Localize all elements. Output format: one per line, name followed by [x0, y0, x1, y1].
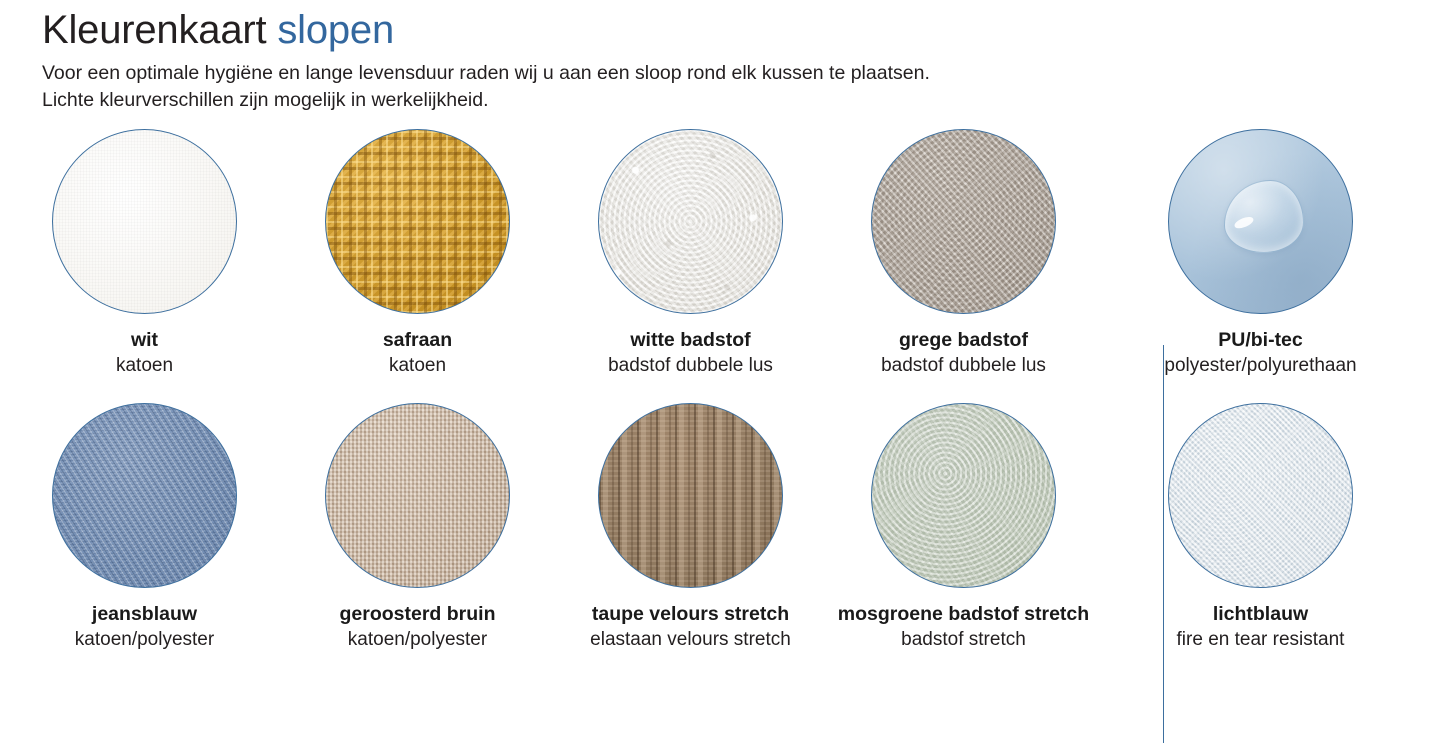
- swatch-labels: PU/bi-tec polyester/polyurethaan: [1164, 328, 1356, 378]
- swatch-name: wit: [116, 328, 173, 352]
- subtitle-line-1: Voor een optimale hygiëne en lange leven…: [42, 60, 1445, 88]
- swatch-item-wit[interactable]: wit katoen: [8, 129, 281, 378]
- swatch-item-mosgroene-badstof-stretch[interactable]: mosgroene badstof stretch badstof stretc…: [827, 403, 1100, 652]
- swatch-labels: wit katoen: [116, 328, 173, 378]
- swatch-circle-pu-bi-tec: [1168, 129, 1353, 314]
- water-droplet-icon: [1224, 180, 1305, 253]
- swatch-item-taupe-velours-stretch[interactable]: taupe velours stretch elastaan velours s…: [554, 403, 827, 652]
- page-title-main: Kleurenkaart: [42, 8, 266, 52]
- swatch-circle-taupe-velours-stretch: [598, 403, 783, 588]
- swatch-circle-mosgroene-badstof-stretch: [871, 403, 1056, 588]
- swatch-material: polyester/polyurethaan: [1164, 354, 1356, 379]
- swatch-row-2: jeansblauw katoen/polyester geroosterd b…: [8, 403, 1437, 652]
- swatch-labels: witte badstof badstof dubbele lus: [608, 328, 773, 378]
- swatch-labels: grege badstof badstof dubbele lus: [881, 328, 1046, 378]
- swatch-labels: jeansblauw katoen/polyester: [75, 602, 214, 652]
- swatch-item-witte-badstof[interactable]: witte badstof badstof dubbele lus: [554, 129, 827, 378]
- swatch-name: jeansblauw: [75, 602, 214, 626]
- page-title: Kleurenkaart slopen: [42, 8, 1445, 53]
- swatch-name: taupe velours stretch: [590, 602, 791, 626]
- swatch-labels: lichtblauw fire en tear resistant: [1177, 602, 1345, 652]
- swatch-circle-jeansblauw: [52, 403, 237, 588]
- swatch-name: lichtblauw: [1177, 602, 1345, 626]
- swatch-name: witte badstof: [608, 328, 773, 352]
- swatch-board: wit katoen safraan katoen witte badstof …: [0, 129, 1445, 652]
- swatch-material: elastaan velours stretch: [590, 628, 791, 653]
- swatch-name: geroosterd bruin: [339, 602, 495, 626]
- swatch-name: mosgroene badstof stretch: [838, 602, 1089, 626]
- swatch-circle-wit: [52, 129, 237, 314]
- swatch-circle-grege-badstof: [871, 129, 1056, 314]
- swatch-labels: geroosterd bruin katoen/polyester: [339, 602, 495, 652]
- page-subtitle: Voor een optimale hygiëne en lange leven…: [42, 60, 1445, 115]
- page-title-accent: slopen: [277, 8, 394, 52]
- swatch-name: PU/bi-tec: [1164, 328, 1356, 352]
- swatch-circle-witte-badstof: [598, 129, 783, 314]
- swatch-material: badstof dubbele lus: [881, 354, 1046, 379]
- swatch-item-safraan[interactable]: safraan katoen: [281, 129, 554, 378]
- swatch-circle-safraan: [325, 129, 510, 314]
- swatch-item-jeansblauw[interactable]: jeansblauw katoen/polyester: [8, 403, 281, 652]
- swatch-material: katoen/polyester: [75, 628, 214, 653]
- swatch-circle-lichtblauw: [1168, 403, 1353, 588]
- page-header: Kleurenkaart slopen Voor een optimale hy…: [0, 0, 1445, 115]
- swatch-labels: mosgroene badstof stretch badstof stretc…: [838, 602, 1089, 652]
- swatch-material: katoen/polyester: [339, 628, 495, 653]
- section-divider: [1163, 345, 1164, 743]
- swatch-material: badstof dubbele lus: [608, 354, 773, 379]
- swatch-material: badstof stretch: [838, 628, 1089, 653]
- swatch-item-grege-badstof[interactable]: grege badstof badstof dubbele lus: [827, 129, 1100, 378]
- swatch-item-geroosterd-bruin[interactable]: geroosterd bruin katoen/polyester: [281, 403, 554, 652]
- swatch-labels: taupe velours stretch elastaan velours s…: [590, 602, 791, 652]
- swatch-row-1: wit katoen safraan katoen witte badstof …: [8, 129, 1437, 378]
- swatch-material: katoen: [383, 354, 452, 379]
- subtitle-line-2: Lichte kleurverschillen zijn mogelijk in…: [42, 87, 1445, 115]
- swatch-name: grege badstof: [881, 328, 1046, 352]
- swatch-circle-geroosterd-bruin: [325, 403, 510, 588]
- swatch-material: katoen: [116, 354, 173, 379]
- swatch-item-pu-bi-tec[interactable]: PU/bi-tec polyester/polyurethaan: [1120, 129, 1401, 378]
- swatch-name: safraan: [383, 328, 452, 352]
- swatch-labels: safraan katoen: [383, 328, 452, 378]
- swatch-material: fire en tear resistant: [1177, 628, 1345, 653]
